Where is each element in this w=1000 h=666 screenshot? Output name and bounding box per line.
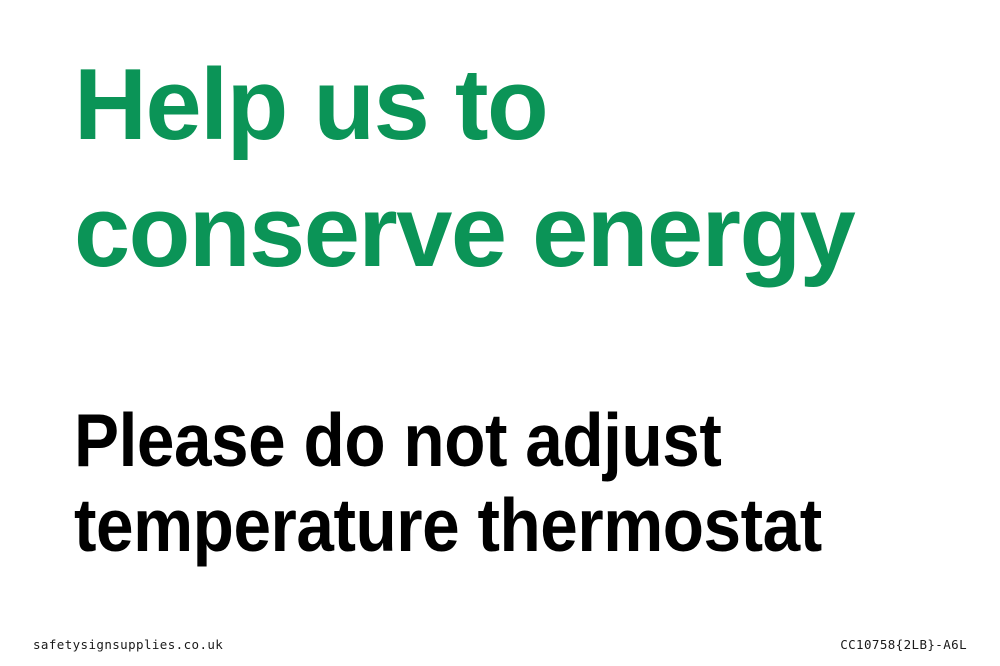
footer-website-text: safetysignsupplies.co.uk [33, 636, 223, 654]
energy-conservation-sign: Help us to conserve energy Please do not… [0, 0, 1000, 666]
footer: safetysignsupplies.co.uk CC10758{2LB}-A6… [0, 636, 1000, 654]
message-line-2: temperature thermostat [74, 483, 866, 568]
footer-product-code: CC10758{2LB}-A6L [840, 636, 967, 654]
message-block: Please do not adjust temperature thermos… [74, 398, 954, 568]
headline-line-2: conserve energy [74, 169, 954, 296]
headline-block: Help us to conserve energy [74, 42, 954, 296]
message-line-1: Please do not adjust [74, 398, 866, 483]
headline-line-1: Help us to [74, 42, 954, 169]
